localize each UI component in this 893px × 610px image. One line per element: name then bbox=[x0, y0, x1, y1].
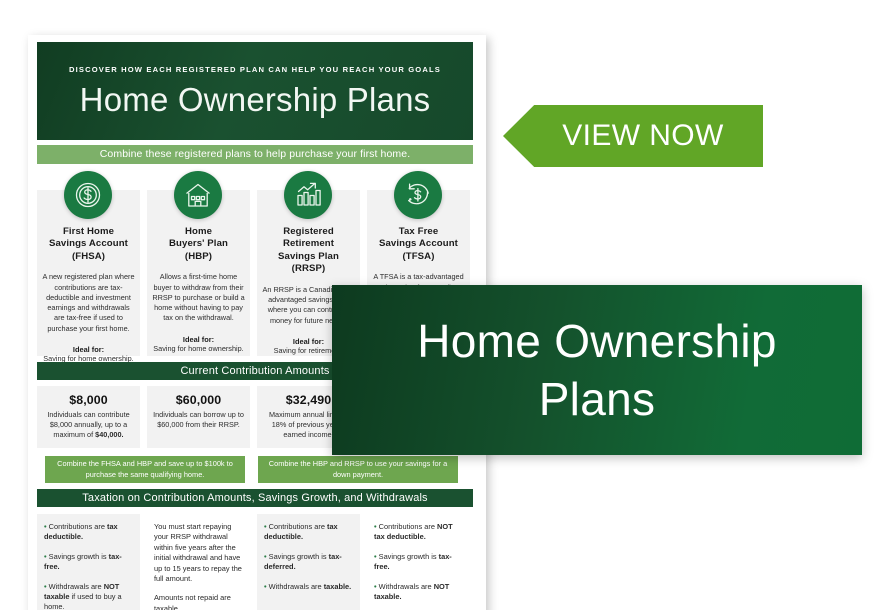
overlay-title-text: Home Ownership Plans bbox=[417, 312, 777, 428]
screenshot-stage: DISCOVER HOW EACH REGISTERED PLAN CAN HE… bbox=[0, 0, 893, 610]
taxation-item: • Savings growth is tax-deferred. bbox=[264, 552, 354, 573]
taxation-item: • Withdrawals are NOT taxable if used to… bbox=[44, 582, 134, 610]
taxation-column: • Contributions are NOT tax deductible.•… bbox=[367, 514, 470, 610]
overlay-title-card[interactable]: Home Ownership Plans bbox=[332, 285, 862, 455]
plan-name: Tax FreeSavings Account(TFSA) bbox=[372, 226, 465, 263]
plan-name: HomeBuyers' Plan(HBP) bbox=[152, 226, 245, 263]
tip-box: Combine the HBP and RRSP to use your sav… bbox=[258, 456, 458, 483]
taxation-item: • Withdrawals are NOT taxable. bbox=[374, 582, 464, 603]
dollar-refresh-icon bbox=[394, 171, 442, 219]
combination-tips-row: Combine the FHSA and HBP and save up to … bbox=[37, 456, 473, 483]
dollar-coin-icon bbox=[64, 171, 112, 219]
tip-box: Combine the FHSA and HBP and save up to … bbox=[45, 456, 245, 483]
taxation-item: • Savings growth is tax-free. bbox=[374, 552, 464, 573]
taxation-band: Taxation on Contribution Amounts, Saving… bbox=[37, 489, 473, 507]
taxation-item: • Withdrawals are taxable. bbox=[264, 582, 354, 592]
amount-note: Individuals can borrow up to $60,000 fro… bbox=[153, 410, 244, 430]
amount-cell: $8,000 Individuals can contribute $8,000… bbox=[37, 386, 140, 448]
hero-title-text: Home Ownership Plans bbox=[37, 78, 473, 122]
taxation-item: • Contributions are tax deductible. bbox=[44, 522, 134, 543]
document-subtitle-bar: Combine these registered plans to help p… bbox=[37, 145, 473, 164]
document-hero-banner: DISCOVER HOW EACH REGISTERED PLAN CAN HE… bbox=[37, 42, 473, 140]
taxation-column: You must start repaying your RRSP withdr… bbox=[147, 514, 250, 610]
plan-ideal-text: Saving for home ownership. bbox=[152, 344, 245, 354]
plan-name: First HomeSavings Account(FHSA) bbox=[42, 226, 135, 263]
plan-description: Allows a first-time home buyer to withdr… bbox=[152, 272, 245, 323]
taxation-item: You must start repaying your RRSP withdr… bbox=[154, 522, 244, 584]
taxation-item: Amounts not repaid are taxable. bbox=[154, 593, 244, 610]
amount-value: $8,000 bbox=[43, 393, 134, 407]
amount-note: Individuals can contribute $8,000 annual… bbox=[43, 410, 134, 441]
view-now-button[interactable]: VIEW NOW bbox=[503, 105, 763, 167]
taxation-column: • Contributions are tax deductible.• Sav… bbox=[257, 514, 360, 610]
house-icon bbox=[174, 171, 222, 219]
plan-ideal-label: Ideal for: bbox=[42, 345, 135, 354]
taxation-item: • Savings growth is tax-free. bbox=[44, 552, 134, 573]
amount-cell: $60,000 Individuals can borrow up to $60… bbox=[147, 386, 250, 448]
taxation-column: • Contributions are tax deductible.• Sav… bbox=[37, 514, 140, 610]
amount-value: $60,000 bbox=[153, 393, 244, 407]
taxation-item: • Contributions are NOT tax deductible. bbox=[374, 522, 464, 543]
taxation-columns-row: • Contributions are tax deductible.• Sav… bbox=[37, 514, 473, 610]
growth-chart-icon bbox=[284, 171, 332, 219]
plan-ideal-label: Ideal for: bbox=[152, 335, 245, 344]
plan-name: RegisteredRetirementSavings Plan (RRSP) bbox=[262, 226, 355, 276]
taxation-item: • Contributions are tax deductible. bbox=[264, 522, 354, 543]
hero-kicker-text: DISCOVER HOW EACH REGISTERED PLAN CAN HE… bbox=[37, 65, 473, 74]
plan-description: A new registered plan where contribution… bbox=[42, 272, 135, 334]
